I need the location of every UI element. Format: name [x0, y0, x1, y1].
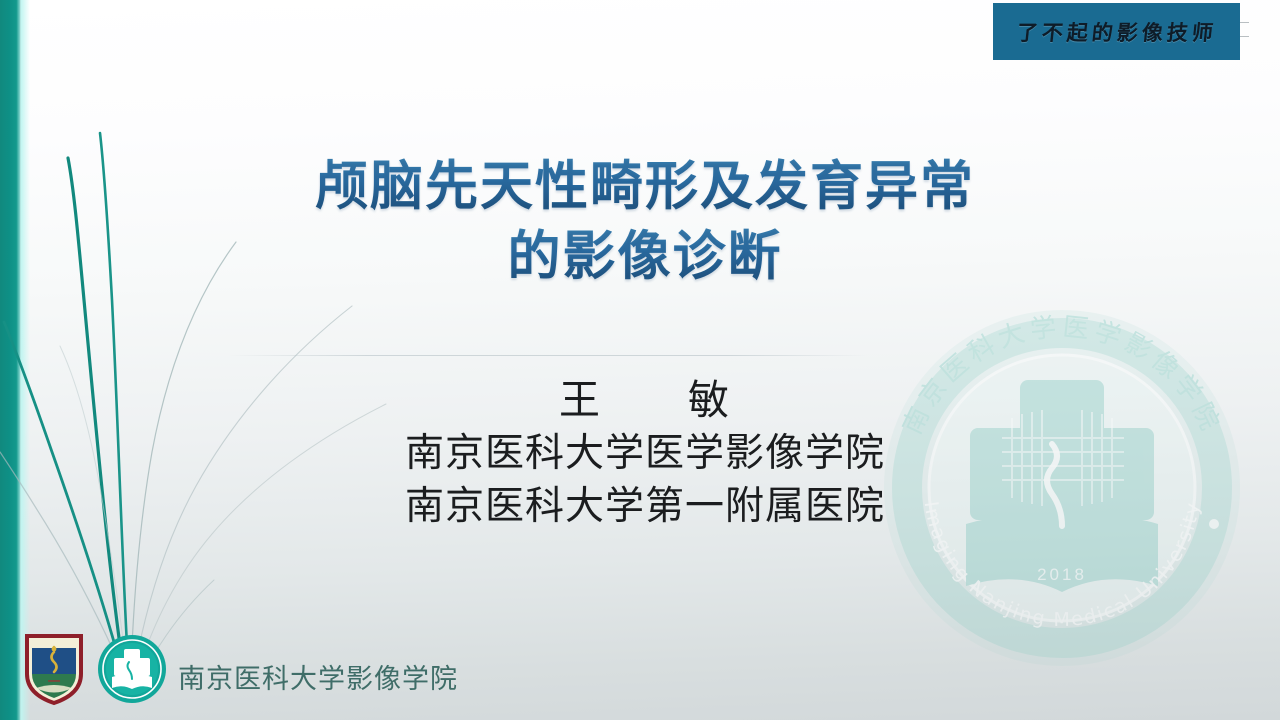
section-divider: [228, 355, 868, 356]
left-accent-bar: [0, 0, 21, 720]
imaging-college-seal-icon: [96, 633, 168, 705]
badge-tick-marks: [1240, 22, 1258, 56]
seal-year: 2018: [1037, 565, 1087, 584]
title-line-1: 颅脑先天性畸形及发育异常: [180, 152, 1110, 222]
grass-decoration-icon: [0, 0, 420, 720]
affiliation-line-1: 南京医科大学医学影像学院: [180, 427, 1110, 480]
footer-organization-label: 南京医科大学影像学院: [178, 657, 458, 696]
university-crest-icon: 一: [23, 632, 85, 706]
channel-badge[interactable]: 了不起的影像技师: [993, 3, 1240, 60]
author-name: 王 敏: [180, 375, 1110, 427]
author-block: 王 敏 南京医科大学医学影像学院 南京医科大学第一附属医院: [180, 375, 1110, 533]
title-line-2: 的影像诊断: [180, 222, 1110, 292]
presentation-slide: 了不起的影像技师 2018 南京医科大学: [0, 0, 1280, 720]
page-title: 颅脑先天性畸形及发育异常 的影像诊断: [180, 152, 1110, 292]
left-accent-glow: [21, 0, 30, 720]
affiliation-line-2: 南京医科大学第一附属医院: [180, 480, 1110, 533]
channel-badge-label: 了不起的影像技师: [1015, 17, 1218, 47]
